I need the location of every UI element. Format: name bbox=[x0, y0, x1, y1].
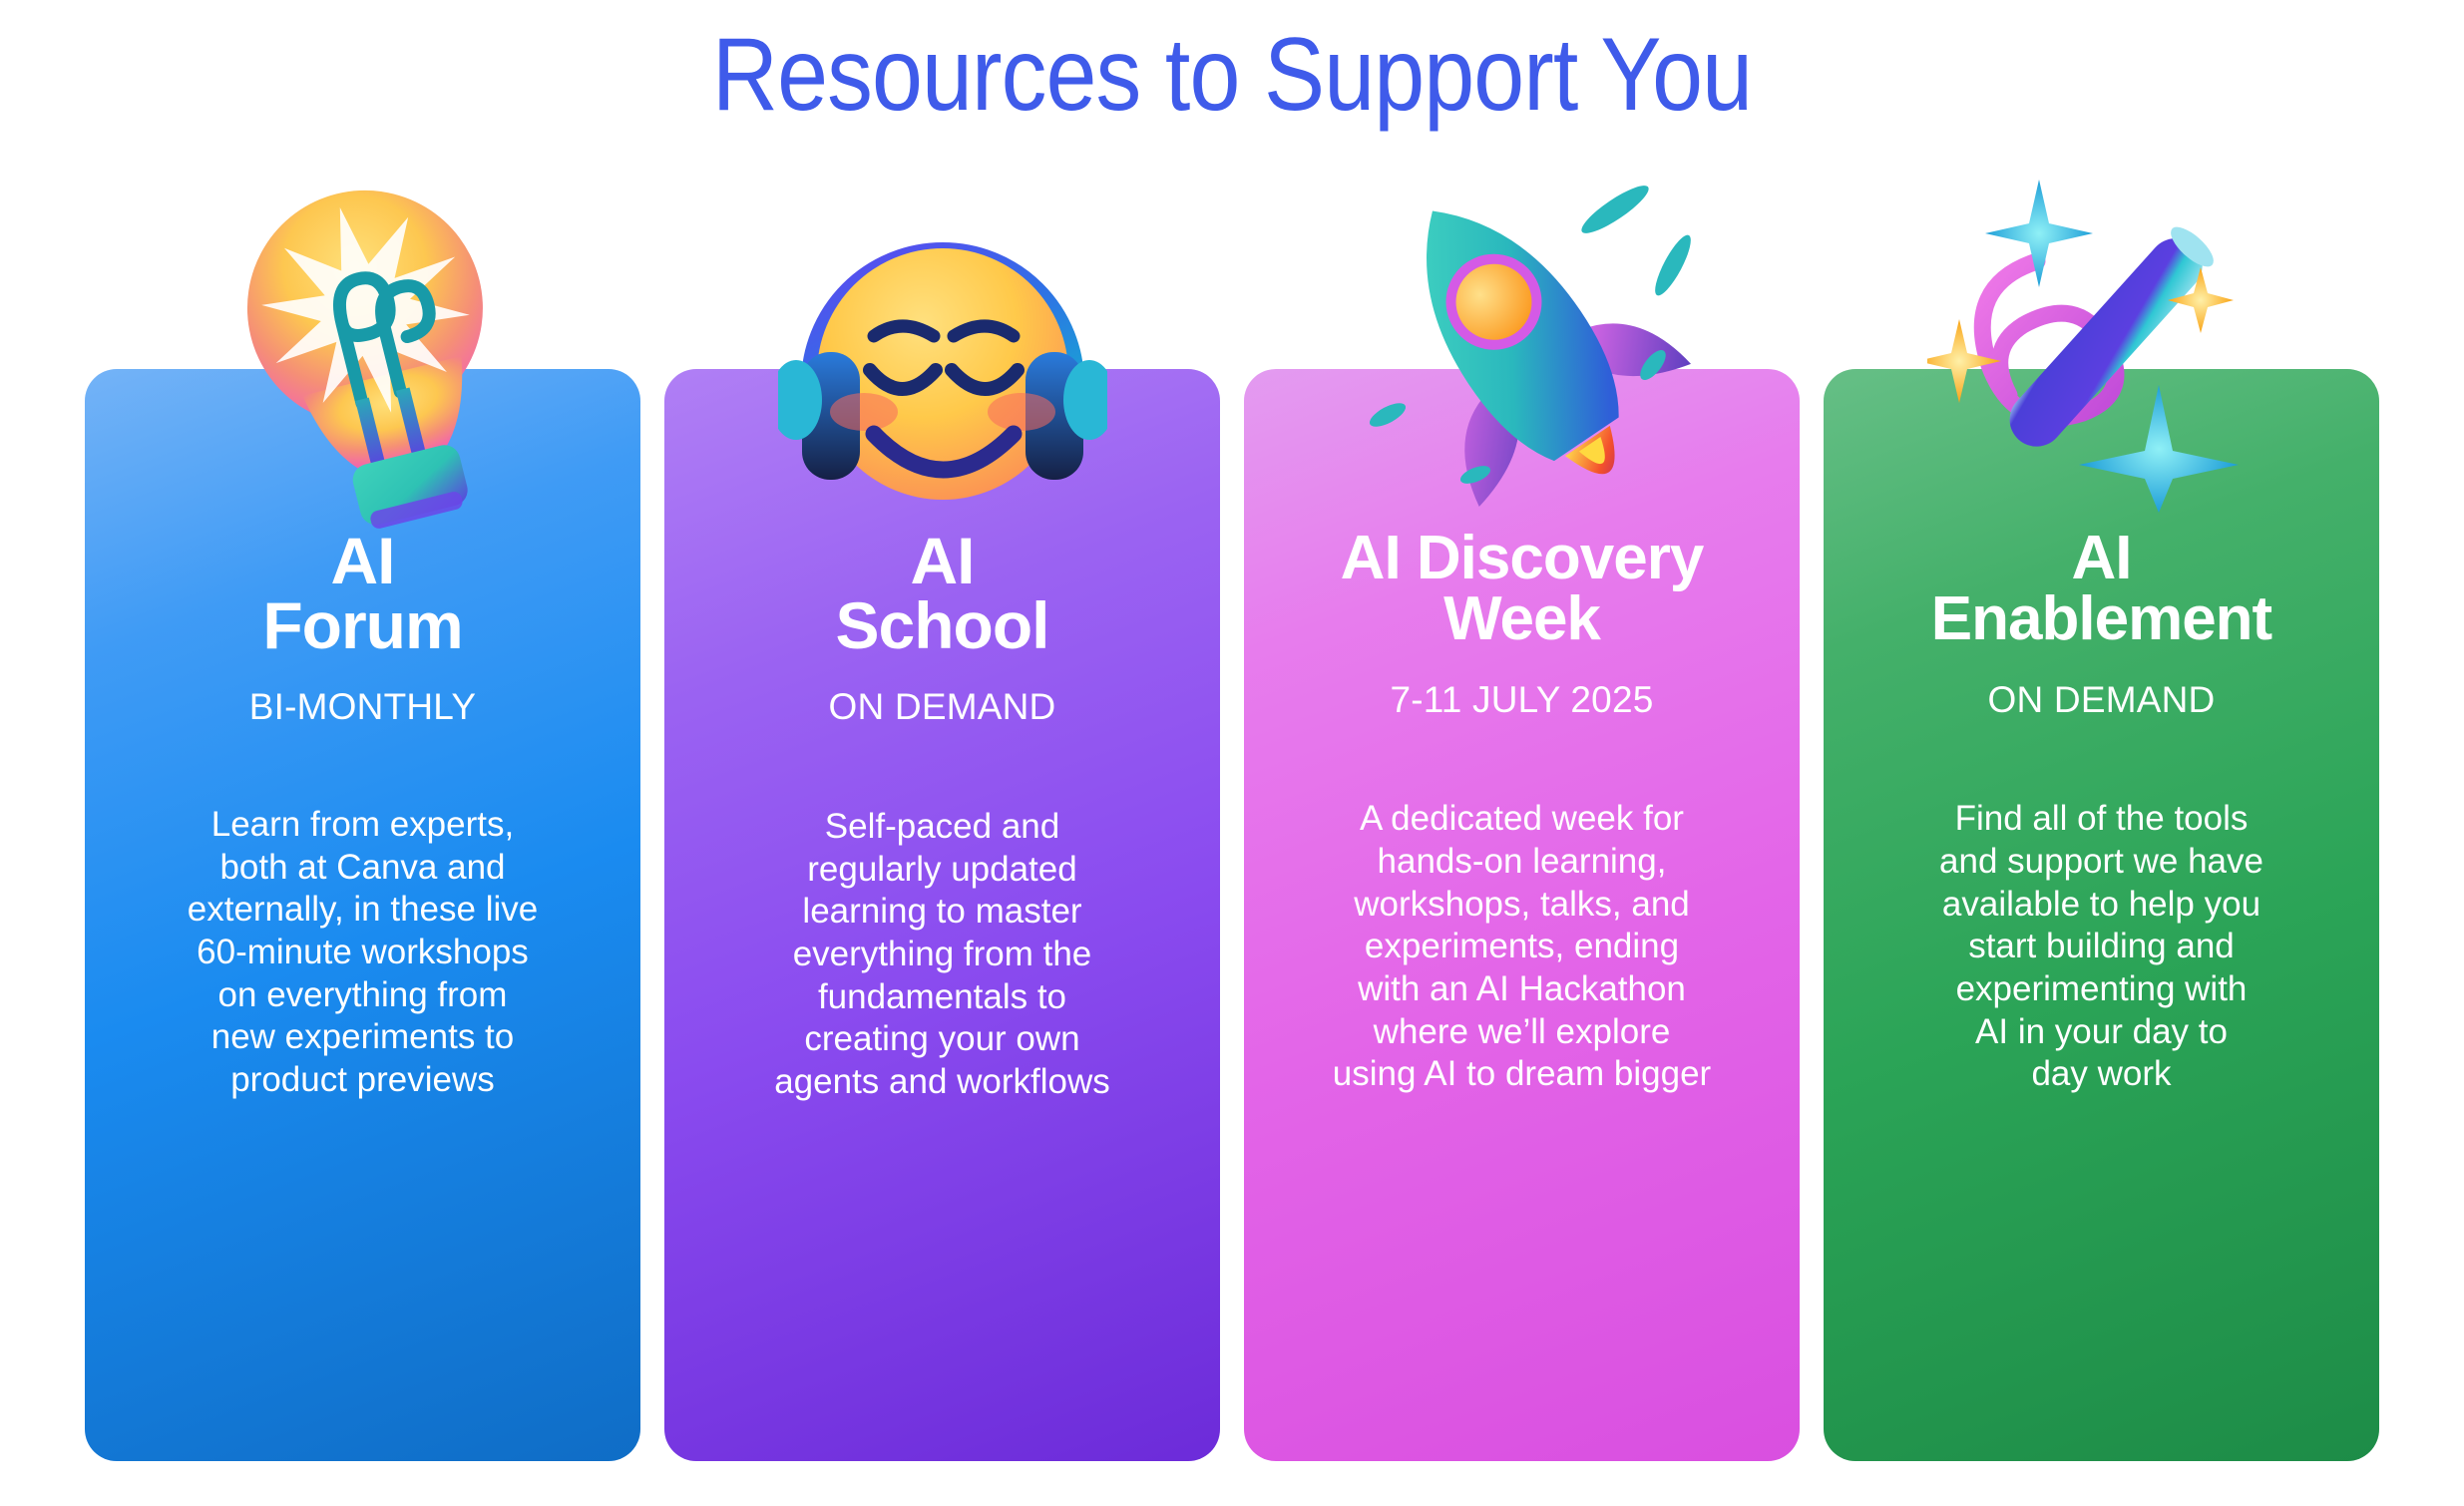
card-title: AI Discovery Week bbox=[1341, 529, 1704, 650]
card-subtitle: BI-MONTHLY bbox=[249, 687, 476, 728]
card-subtitle: ON DEMAND bbox=[1988, 680, 2216, 721]
poster-canvas: Resources to Support You bbox=[0, 0, 2464, 1506]
resource-card-ai-forum[interactable]: AI Forum BI-MONTHLY Learn from experts, … bbox=[85, 369, 640, 1461]
page-title: Resources to Support You bbox=[148, 18, 2316, 132]
resource-card-ai-school[interactable]: AI School ON DEMAND Self-paced and regul… bbox=[664, 369, 1220, 1461]
resource-card-ai-discovery-week[interactable]: AI Discovery Week 7-11 JULY 2025 A dedic… bbox=[1244, 369, 1800, 1461]
card-body-text: A dedicated week for hands-on learning, … bbox=[1327, 798, 1717, 1096]
card-subtitle: 7-11 JULY 2025 bbox=[1390, 680, 1653, 721]
card-body-text: Self-paced and regularly updated learnin… bbox=[768, 806, 1116, 1104]
card-title: AI Forum bbox=[262, 529, 462, 657]
card-title: AI School bbox=[835, 529, 1048, 657]
resource-card-ai-enablement[interactable]: AI Enablement ON DEMAND Find all of the … bbox=[1824, 369, 2379, 1461]
card-body-text: Learn from experts, both at Canva and ex… bbox=[182, 804, 544, 1102]
resource-card-row: AI Forum BI-MONTHLY Learn from experts, … bbox=[85, 369, 2379, 1461]
card-subtitle: ON DEMAND bbox=[829, 687, 1056, 728]
card-body-text: Find all of the tools and support we hav… bbox=[1933, 798, 2269, 1096]
card-title: AI Enablement bbox=[1931, 529, 2271, 650]
